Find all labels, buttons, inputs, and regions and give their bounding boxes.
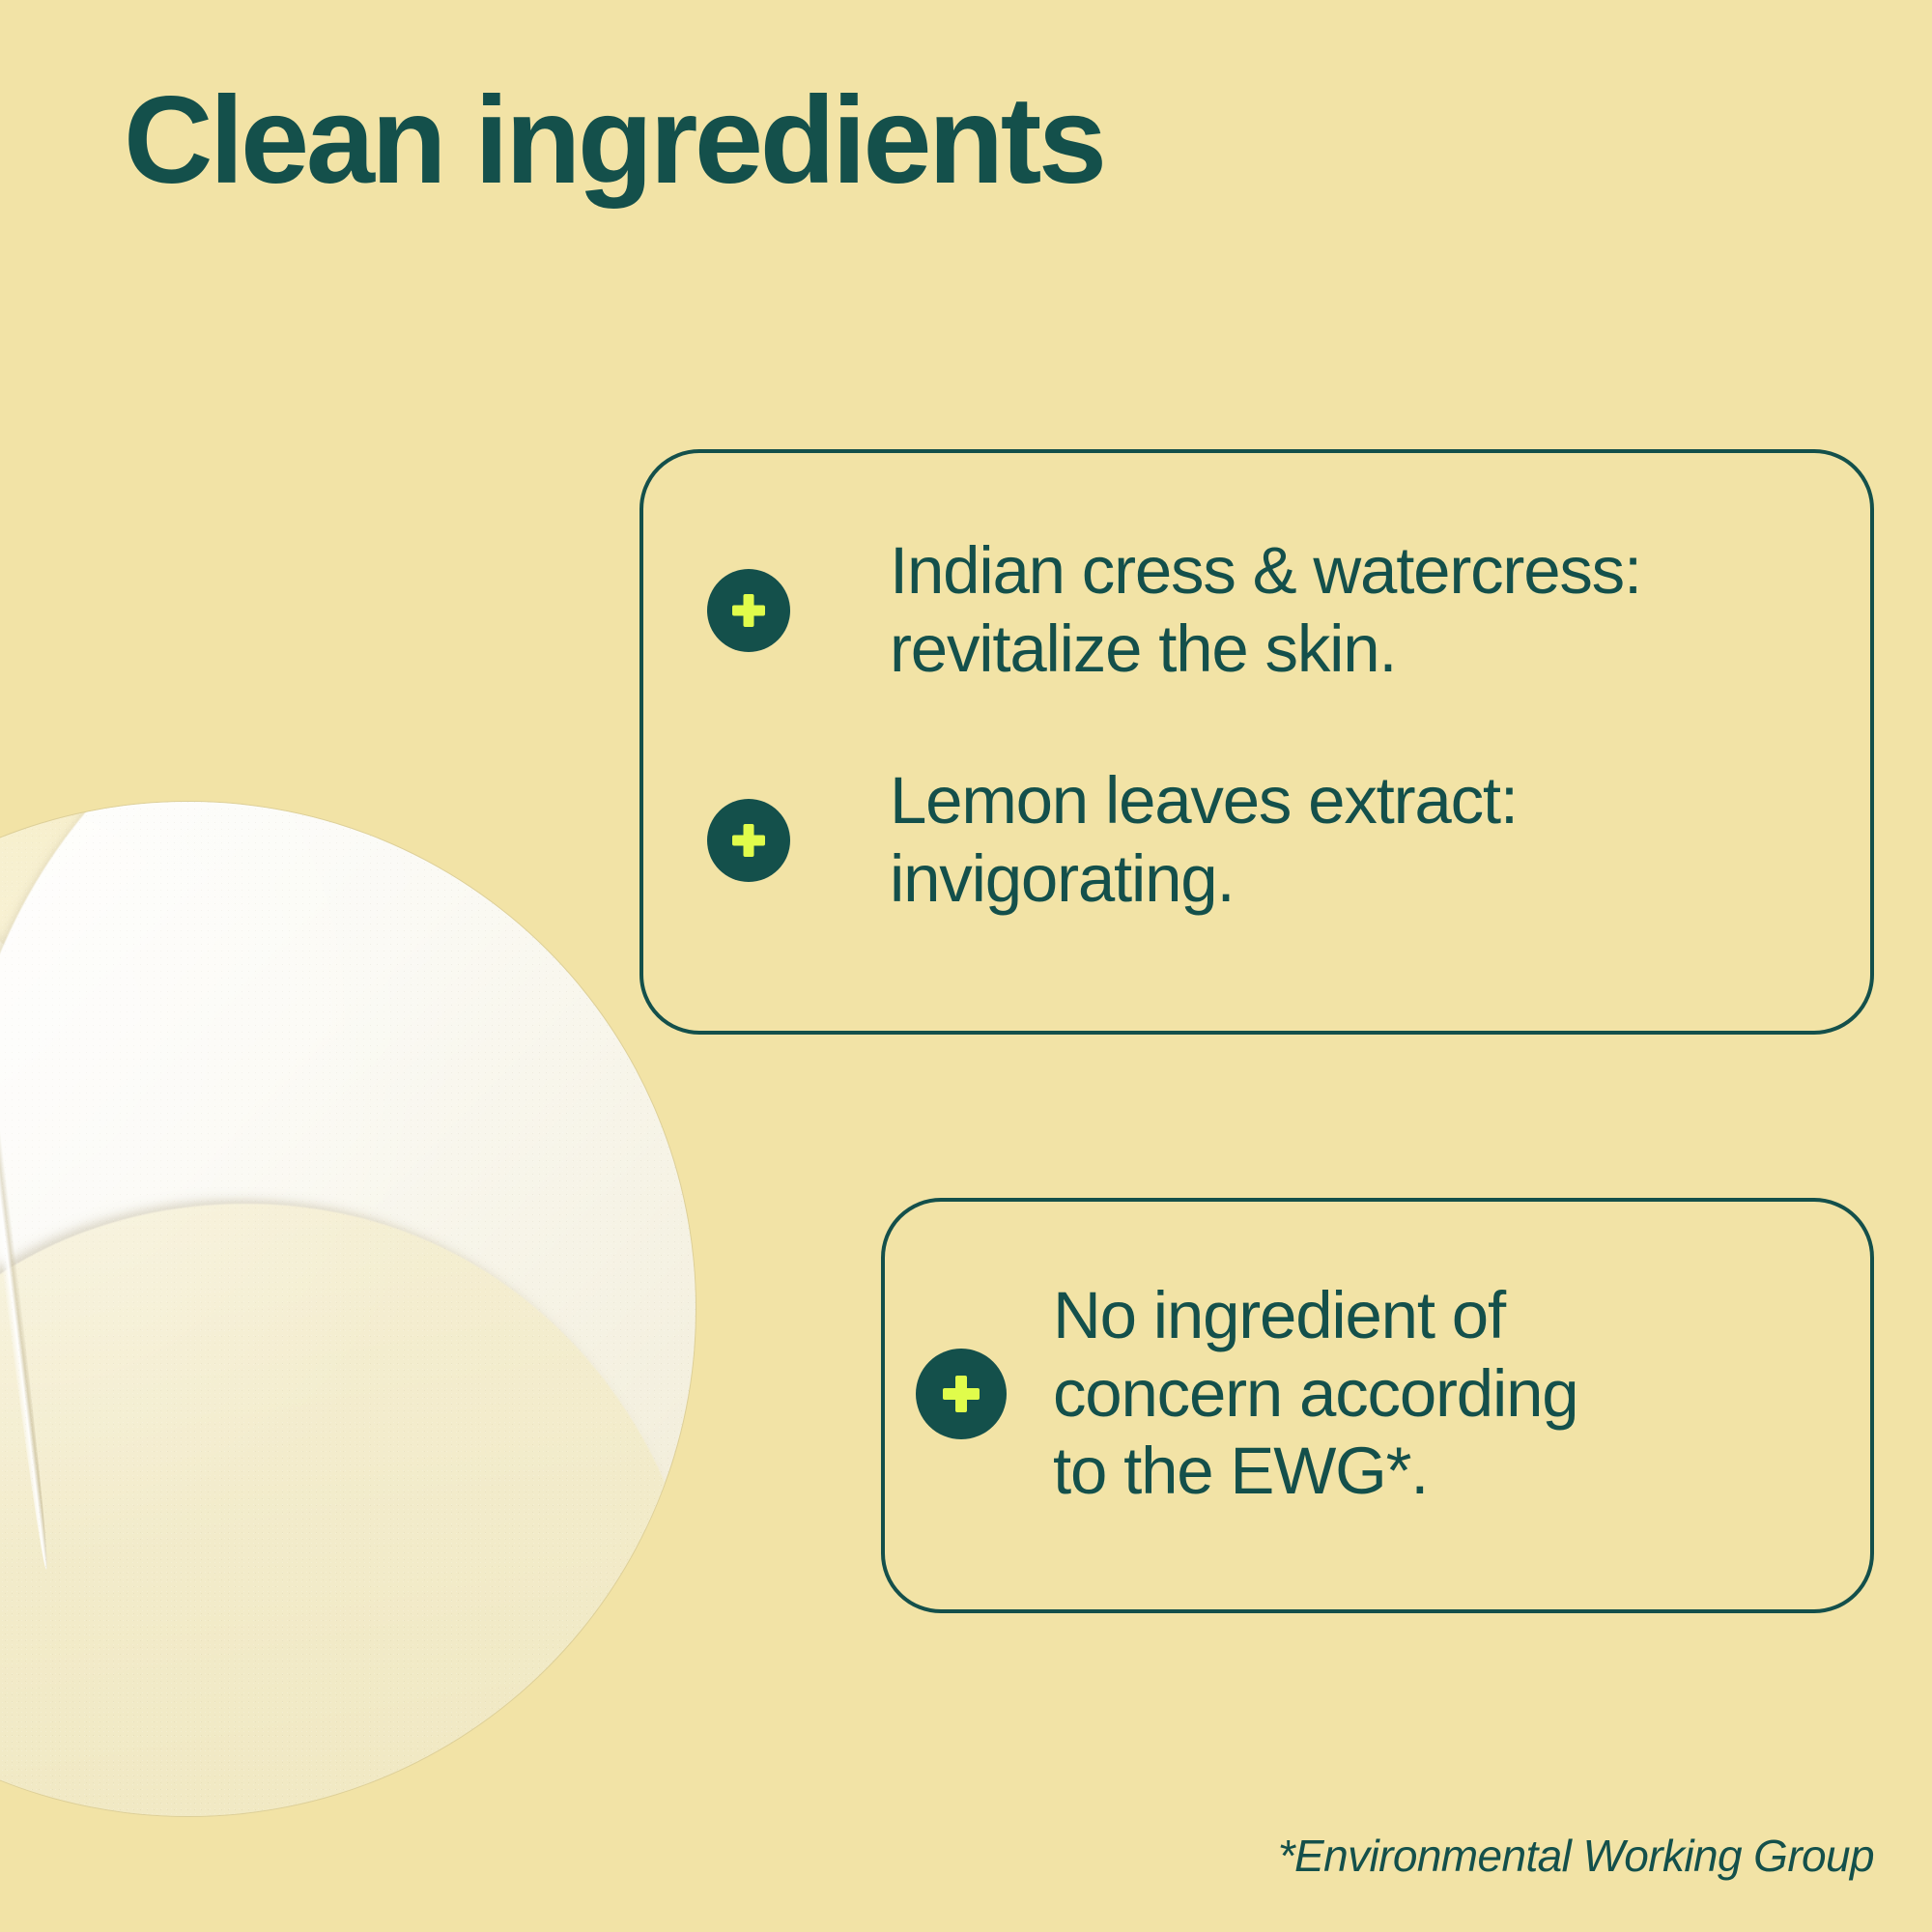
plus-icon — [707, 799, 790, 882]
footnote: *Environmental Working Group — [1278, 1830, 1874, 1882]
list-item: No ingredient of concern according to th… — [916, 1277, 1577, 1511]
list-item: Lemon leaves extract: invigorating. — [707, 762, 1518, 918]
list-item-label: No ingredient of concern according to th… — [1053, 1277, 1577, 1511]
ingredients-card: Indian cress & watercress: revitalize th… — [639, 449, 1874, 1035]
plus-icon — [916, 1349, 1007, 1439]
plus-icon — [707, 569, 790, 652]
list-item-label: Indian cress & watercress: revitalize th… — [890, 532, 1641, 688]
product-photo — [0, 802, 696, 1816]
list-item: Indian cress & watercress: revitalize th… — [707, 532, 1641, 688]
ewg-card: No ingredient of concern according to th… — [881, 1198, 1874, 1613]
page-title: Clean ingredients — [124, 79, 1104, 203]
list-item-label: Lemon leaves extract: invigorating. — [890, 762, 1518, 918]
